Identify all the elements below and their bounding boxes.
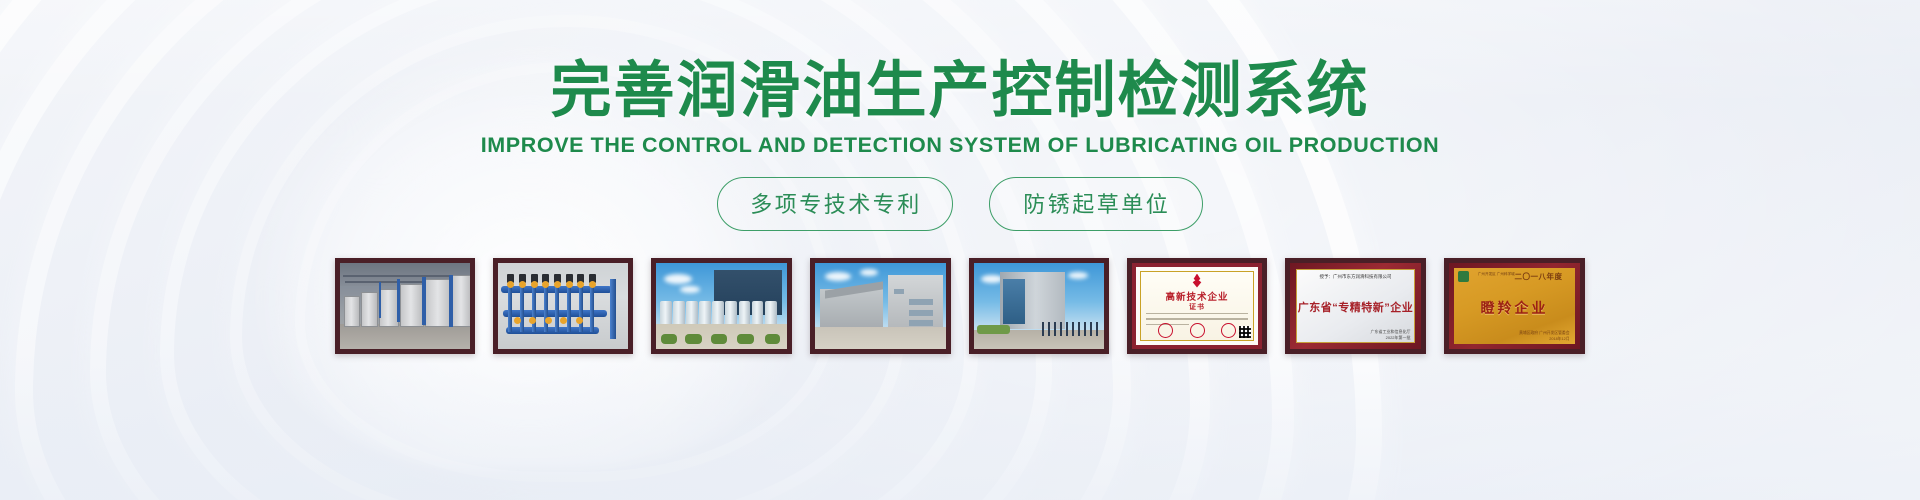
- gallery-item-storage-tanks[interactable]: [651, 258, 792, 354]
- guangdong-specialized-new-enterprise-plaque: 授予：广州市东方润滑科技有限公司 广东省“专精特新”企业 广东省工业和信息化厅 …: [1290, 263, 1421, 349]
- qr-code-icon: [1239, 326, 1251, 338]
- plaque-org: 广州开发区 广州科学城: [1478, 272, 1515, 277]
- gallery-strip: 高新技术企业 证书: [0, 258, 1920, 354]
- hero-banner: 完善润滑油生产控制检测系统 IMPROVE THE CONTROL AND DE…: [0, 0, 1920, 500]
- factory-exterior-photo: [815, 263, 946, 349]
- office-building-photo: [974, 263, 1104, 349]
- badge-antirust-standard[interactable]: 防锈起草单位: [989, 177, 1203, 231]
- gallery-item-factory-exterior[interactable]: [810, 258, 951, 354]
- production-line-photo: [340, 263, 470, 349]
- gallery-item-hightech-certificate[interactable]: 高新技术企业 证书: [1127, 258, 1267, 354]
- plaque-date: 2022年第一批: [1371, 335, 1411, 341]
- plaque-header: 授予：广州市东方润滑科技有限公司: [1290, 274, 1421, 280]
- gallery-item-office-building[interactable]: [969, 258, 1109, 354]
- plaque-year: 二〇一八年度: [1515, 271, 1563, 282]
- development-zone-logo-icon: [1458, 271, 1469, 282]
- storage-tanks-photo: [656, 263, 787, 349]
- gallery-item-gazelle-plaque[interactable]: 广州开发区 广州科学城 二〇一八年度 瞪羚企业 黄埔区政府 广州开发区管委会 2…: [1444, 258, 1585, 354]
- blue-pipework-photo: [498, 263, 628, 349]
- gallery-item-specialized-plaque[interactable]: 授予：广州市东方润滑科技有限公司 广东省“专精特新”企业 广东省工业和信息化厅 …: [1285, 258, 1426, 354]
- gallery-item-pipework[interactable]: [493, 258, 633, 354]
- plaque-title: 瞪羚企业: [1449, 298, 1580, 318]
- banner-content: 完善润滑油生产控制检测系统 IMPROVE THE CONTROL AND DE…: [0, 0, 1920, 354]
- plaque-title: 广东省“专精特新”企业: [1290, 299, 1421, 315]
- badge-patents[interactable]: 多项专技术专利: [717, 177, 953, 231]
- page-subtitle: IMPROVE THE CONTROL AND DETECTION SYSTEM…: [0, 133, 1920, 158]
- high-tech-enterprise-certificate: 高新技术企业 证书: [1132, 263, 1262, 349]
- certificate-subtitle: 证书: [1136, 302, 1258, 312]
- plaque-date: 2018年12月: [1519, 336, 1569, 342]
- badge-row: 多项专技术专利 防锈起草单位: [0, 177, 1920, 231]
- gallery-item-production-line[interactable]: [335, 258, 475, 354]
- gazelle-enterprise-plaque: 广州开发区 广州科学城 二〇一八年度 瞪羚企业 黄埔区政府 广州开发区管委会 2…: [1449, 263, 1580, 349]
- plaque-issuer: 广东省工业和信息化厅: [1371, 329, 1411, 335]
- page-title: 完善润滑油生产控制检测系统: [0, 0, 1920, 124]
